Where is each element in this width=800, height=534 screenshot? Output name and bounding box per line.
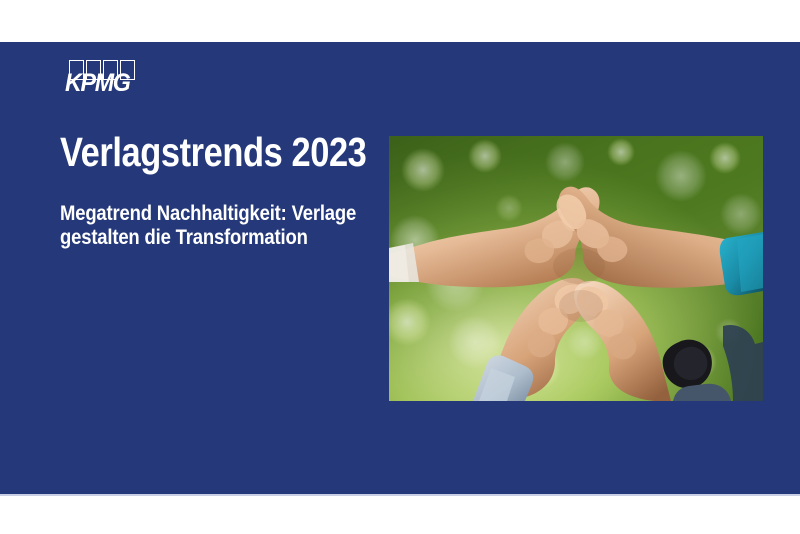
kpmg-logo: KPMG xyxy=(65,60,141,96)
cover-photo xyxy=(389,136,763,401)
page-subtitle: Megatrend Nachhaltigkeit: Verlage gestal… xyxy=(60,174,386,250)
cover-text-block: Verlagstrends 2023 Megatrend Nachhaltigk… xyxy=(60,130,380,250)
kpmg-logo-wordmark: KPMG xyxy=(65,71,130,96)
report-cover: KPMG Verlagstrends 2023 Megatrend Nachha… xyxy=(0,0,800,534)
cover-photo-illustration xyxy=(389,136,763,401)
page-title: Verlagstrends 2023 xyxy=(60,130,329,174)
panel-bottom-rule xyxy=(0,494,800,496)
